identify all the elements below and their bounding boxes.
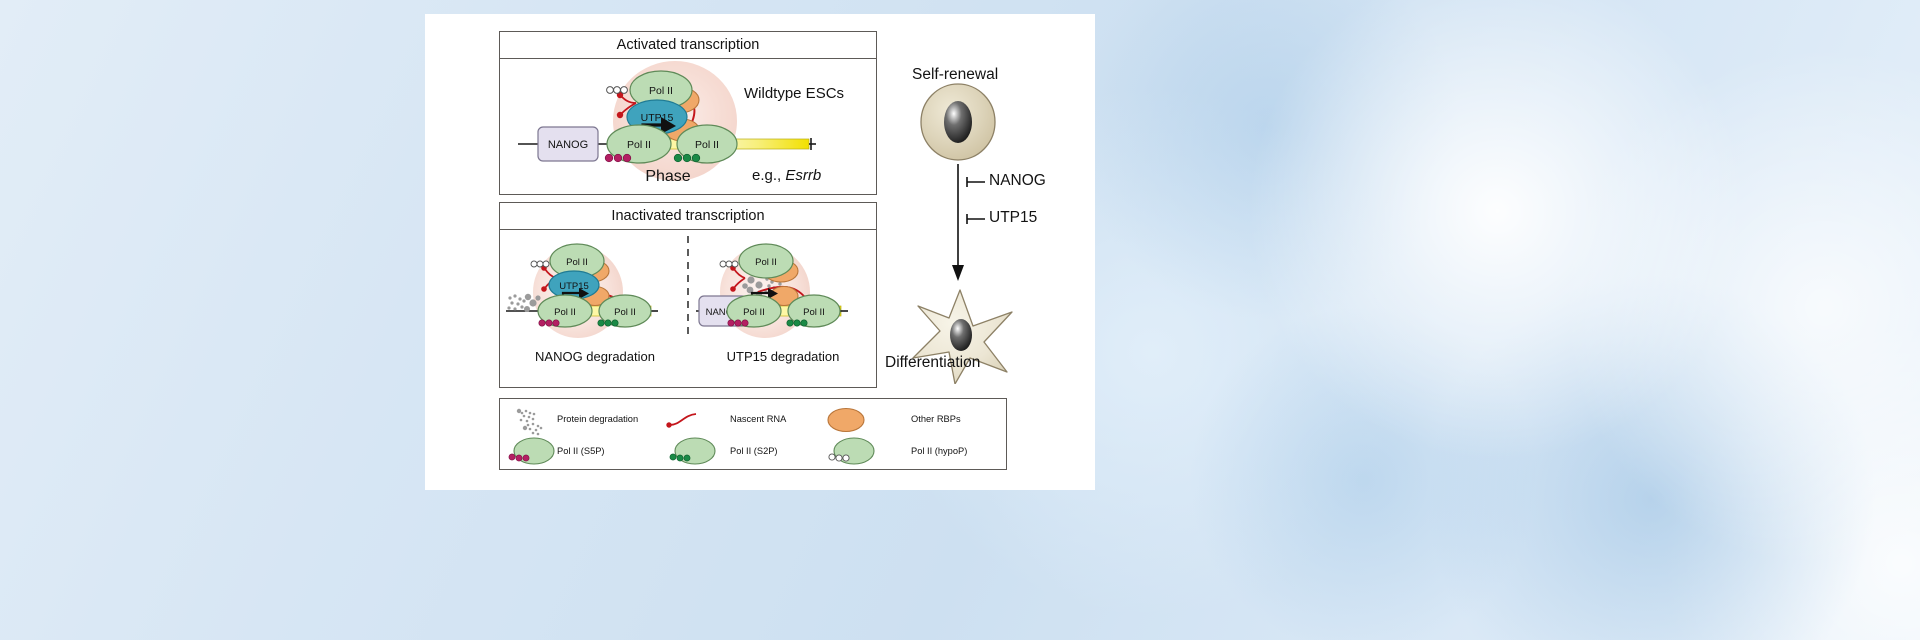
rna-cap-right-2 [730,286,736,292]
rna-cap-2 [617,112,623,118]
s5p-ctd-beads-right [728,320,748,326]
polii-label-s2p-left: Pol II [614,307,636,318]
panel-inactivated-body: Pol II UTP15 Pol II [500,230,876,387]
nascent-rna-icon-cap [666,422,671,427]
hypop-ctd-beads-right [720,261,738,267]
example-gene-line: e.g., Esrrb [752,167,821,184]
rna-cap-left-2 [541,286,547,292]
protein-degradation-icon [517,409,543,436]
legend-label-polii-s5p: Pol II (S5P) [557,446,605,456]
polii-s5p-icon-beads [509,454,529,461]
hypop-ctd-beads [607,87,628,94]
panel-activated-transcription: Activated transcription [499,31,877,195]
stem-cell [921,84,995,160]
polii-label-top: Pol II [649,85,673,97]
s2p-ctd-beads [674,154,700,162]
example-prefix: e.g., [752,167,785,184]
s2p-ctd-beads-left [598,320,618,326]
subpanel-nanog-degradation: Pol II UTP15 Pol II [506,244,658,338]
differentiated-cell-nucleus [950,319,972,351]
inhibitor-utp15-bar [967,214,985,224]
cell-fate-diagram [885,54,1085,384]
other-rbps-icon [828,409,864,432]
polii-hypop-top-right: Pol II [739,244,793,278]
s5p-ctd-beads [605,154,631,162]
nascent-rna-icon [670,414,696,425]
nanog-label: NANOG [548,139,588,151]
phase-label: Phase [645,168,690,185]
panel-activated-title: Activated transcription [500,32,876,59]
cell-fate-column: Self-renewal [885,54,1085,394]
polii-label-s5p-right: Pol II [743,307,765,318]
inhibitor-label-nanog: NANOG [989,172,1046,190]
s5p-ctd-beads-left [539,320,559,326]
legend-label-nascent-rna: Nascent RNA [730,414,786,424]
figure-card: Activated transcription [425,14,1095,490]
panel-inactivated-title: Inactivated transcription [500,203,876,230]
subpanel-utp15-degradation: NANOG [696,244,848,338]
panel-activated-body: NANOG [500,59,876,194]
legend-label-other-rbps: Other RBPs [911,414,961,424]
differentiation-label: Differentiation [885,354,980,372]
utp15-label-left: UTP15 [559,281,589,292]
polii-label-s2p: Pol II [695,139,719,151]
panel-inactivated-transcription: Inactivated transcription [499,202,877,388]
caption-nanog-degradation: NANOG degradation [535,349,655,364]
legend-graphics [500,399,1005,468]
polii-label-s2p-right: Pol II [803,307,825,318]
legend-label-polii-hypop: Pol II (hypoP) [911,446,967,456]
polii-s2p-icon-beads [670,454,690,461]
inhibitor-nanog-bar [967,177,985,187]
polii-hypop-icon-beads [829,454,849,461]
caption-utp15-degradation: UTP15 degradation [727,349,840,364]
stem-cell-nucleus [944,101,972,143]
legend-label-polii-s2p: Pol II (S2P) [730,446,778,456]
polii-label-hypop-right: Pol II [755,257,777,268]
inhibitor-label-utp15: UTP15 [989,209,1037,227]
fate-arrow-head [952,265,964,281]
polii-label-s5p-left: Pol II [554,307,576,318]
polii-label-s5p: Pol II [627,139,651,151]
nanog-box: NANOG [538,127,598,161]
hypop-ctd-beads-left [531,261,549,267]
example-gene: Esrrb [785,167,821,184]
legend-label-protein-degradation: Protein degradation [557,414,638,424]
inactivated-diagram: Pol II UTP15 Pol II [500,230,875,387]
s2p-ctd-beads-right [787,320,807,326]
polii-label-hypop-left: Pol II [566,257,588,268]
wildtype-escs-label: Wildtype ESCs [744,85,844,102]
legend-box: Protein degradation Nascent RNA Other RB… [499,398,1007,470]
utp15-blob-left: UTP15 [549,271,599,299]
